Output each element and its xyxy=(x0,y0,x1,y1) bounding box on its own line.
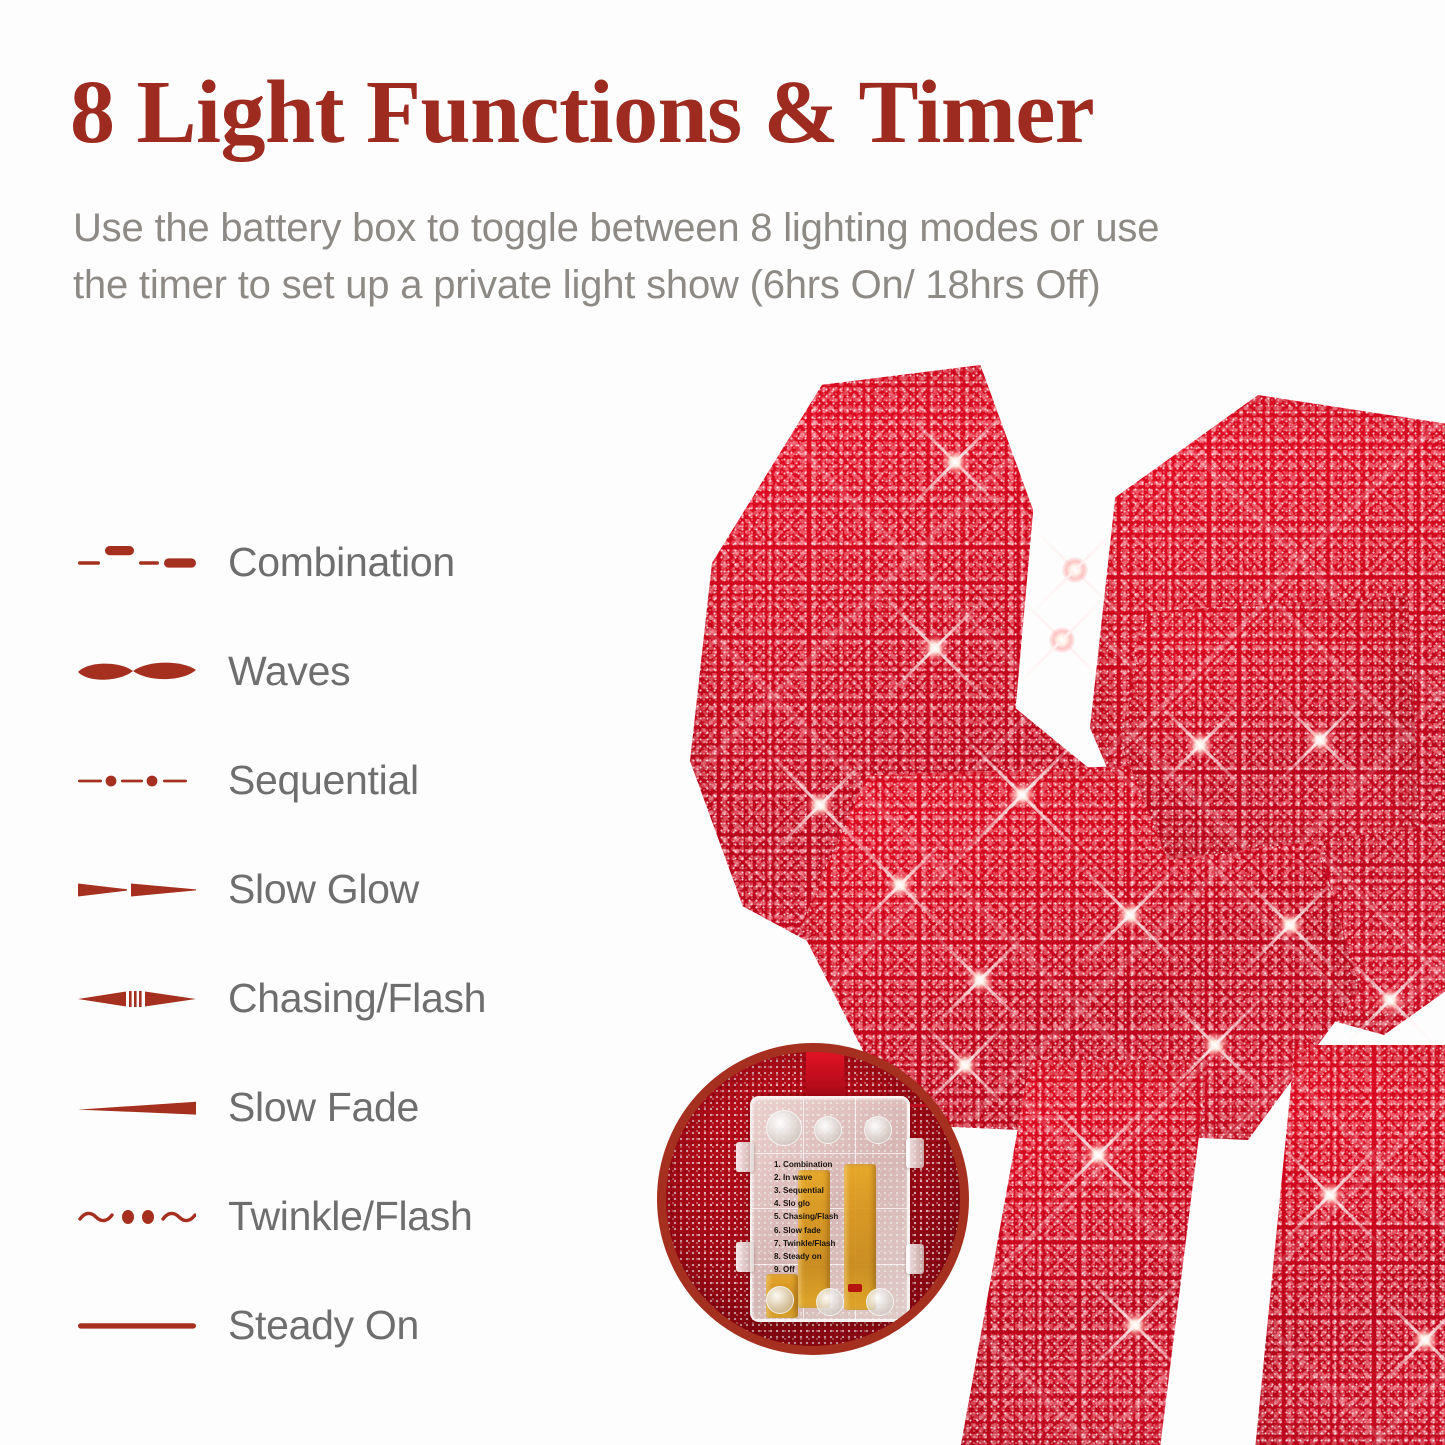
legend-row: Slow Glow xyxy=(78,835,698,944)
chasing-flash-icon xyxy=(78,982,196,1016)
mode-list-item: 4. Slo glo xyxy=(774,1197,910,1210)
legend-label: Chasing/Flash xyxy=(228,975,486,1022)
mode-list-item: 6. Slow fade xyxy=(774,1224,910,1237)
battery-terminal xyxy=(848,1284,862,1292)
screw-icon xyxy=(866,1288,894,1316)
page-subtitle: Use the battery box to toggle between 8 … xyxy=(73,200,1183,314)
legend-label: Twinkle/Flash xyxy=(228,1193,472,1240)
sequential-dash-dot-icon xyxy=(78,764,196,798)
slow-fade-wedge-icon xyxy=(78,1091,196,1125)
glitter-texture xyxy=(1120,590,1420,860)
battery-box-callout: 1. Combination 2. In wave 3. Sequential … xyxy=(657,1043,969,1355)
legend-label: Sequential xyxy=(228,757,419,804)
legend-row: Waves xyxy=(78,617,698,726)
mode-list-item: 8. Steady on xyxy=(774,1250,910,1263)
legend-label: Combination xyxy=(228,539,455,586)
diamond-light-grid xyxy=(1120,590,1420,860)
combination-dash-icon xyxy=(78,546,196,580)
legend-label: Slow Fade xyxy=(228,1084,419,1131)
legend-row: Steady On xyxy=(78,1271,698,1380)
screw-icon xyxy=(814,1116,842,1144)
slow-glow-arrow-icon xyxy=(78,873,196,907)
battery-box-housing: 1. Combination 2. In wave 3. Sequential … xyxy=(750,1096,910,1322)
legend-row: Sequential xyxy=(78,726,698,835)
diamond-light-grid xyxy=(1255,1045,1445,1445)
housing-clip xyxy=(906,1138,924,1168)
page-title: 8 Light Functions & Timer xyxy=(70,66,1094,161)
waves-icon xyxy=(78,655,196,689)
steady-on-line-icon xyxy=(78,1309,196,1343)
twinkle-flash-icon xyxy=(78,1200,196,1234)
housing-clip xyxy=(906,1244,924,1274)
battery-box-mode-list: 1. Combination 2. In wave 3. Sequential … xyxy=(762,1158,910,1276)
legend-row: Slow Fade xyxy=(78,1053,698,1162)
screw-icon xyxy=(766,1110,802,1146)
mode-list-item: 7. Twinkle/Flash xyxy=(774,1237,910,1250)
hanger-tab xyxy=(806,1052,844,1098)
housing-clip xyxy=(736,1142,754,1172)
legend-row: Combination xyxy=(78,508,698,617)
mode-list-item: 9. Off xyxy=(774,1263,910,1276)
glitter-texture xyxy=(1255,1045,1445,1445)
legend-row: Chasing/Flash xyxy=(78,944,698,1053)
mode-list-item: 2. In wave xyxy=(774,1171,910,1184)
screw-icon xyxy=(864,1116,892,1144)
mode-list-item: 3. Sequential xyxy=(774,1184,910,1197)
legend-label: Slow Glow xyxy=(228,866,419,913)
bow-tail-right xyxy=(1255,1045,1445,1445)
bow-center-knot xyxy=(1120,590,1420,860)
housing-clip xyxy=(736,1242,754,1272)
legend-label: Steady On xyxy=(228,1302,419,1349)
legend-label: Waves xyxy=(228,648,350,695)
light-mode-legend: Combination Waves Sequential xyxy=(78,508,698,1380)
mode-list-item: 5. Chasing/Flash xyxy=(774,1210,910,1223)
legend-row: Twinkle/Flash xyxy=(78,1162,698,1271)
screw-icon xyxy=(816,1288,844,1316)
mode-list-item: 1. Combination xyxy=(774,1158,910,1171)
screw-icon xyxy=(766,1286,794,1314)
